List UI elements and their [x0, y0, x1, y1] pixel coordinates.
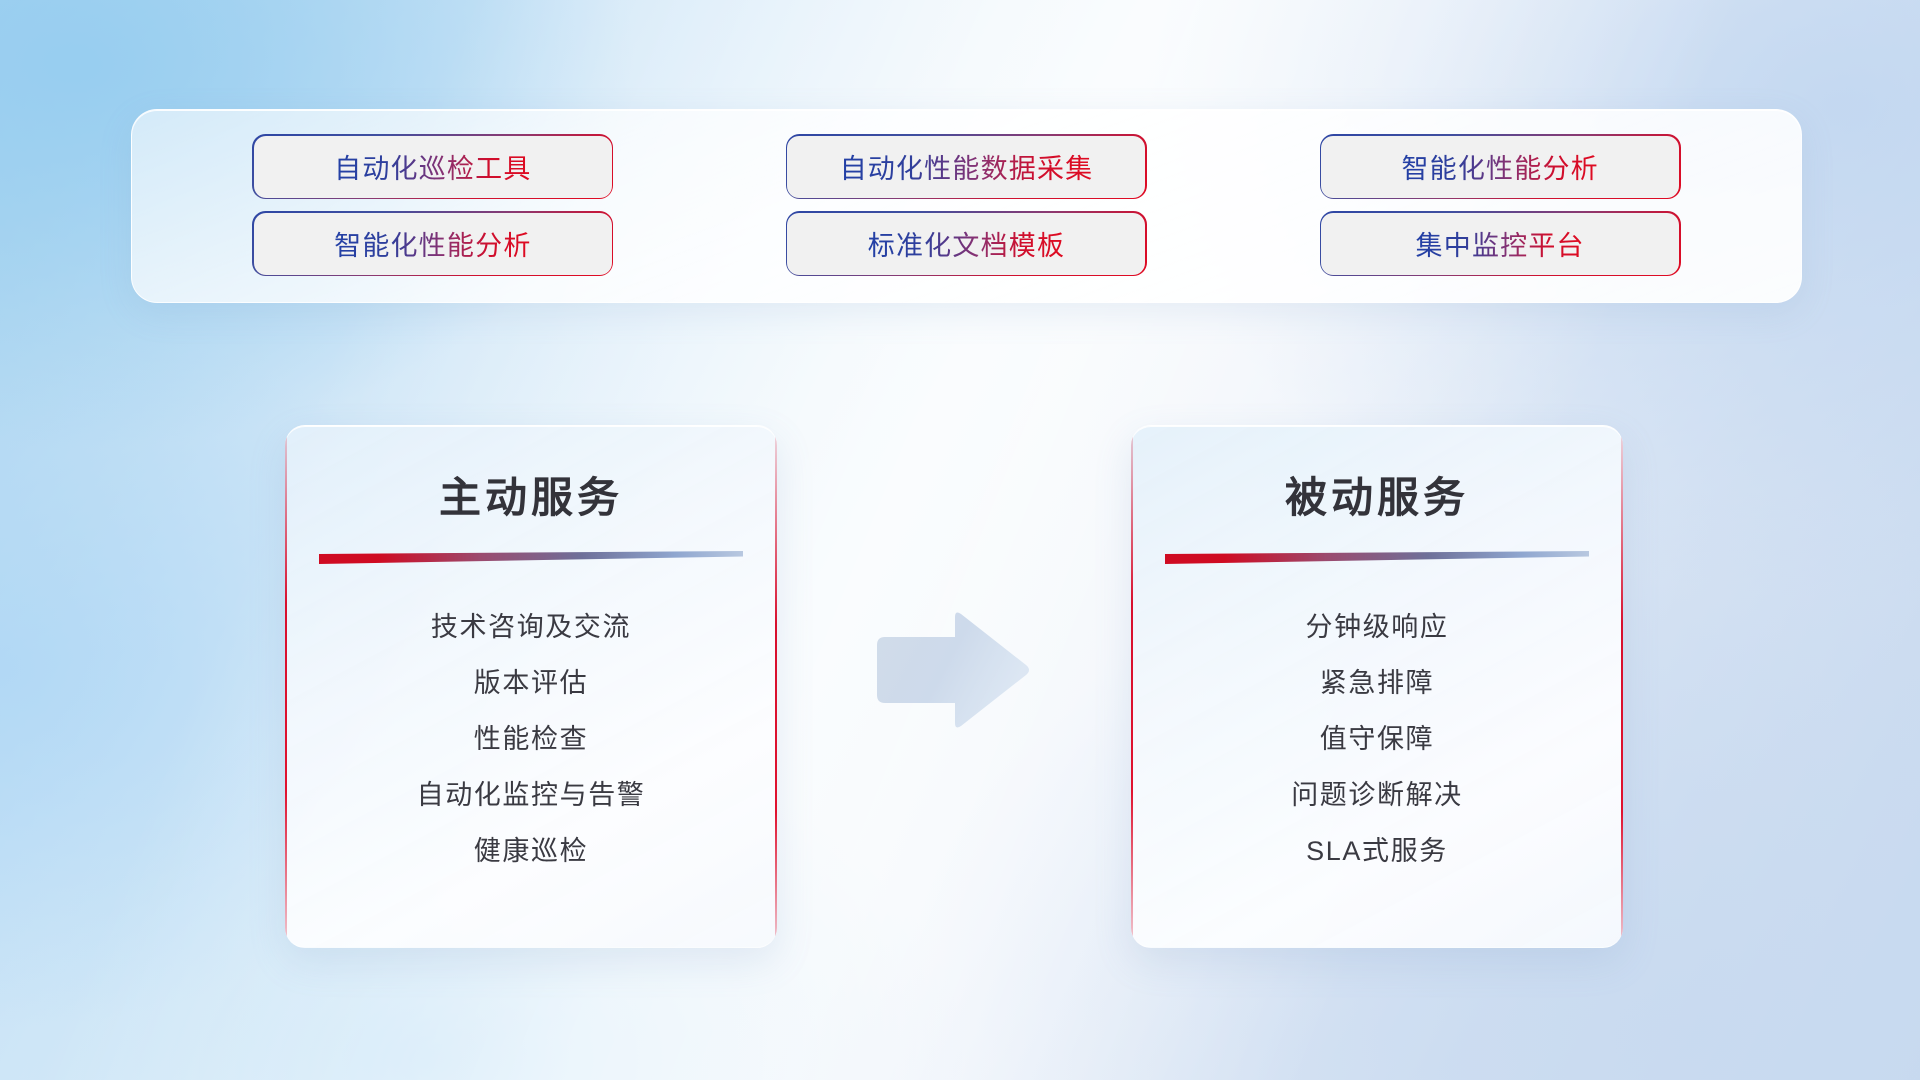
capabilities-panel: 自动化巡检工具 自动化性能数据采集 智能化性能分析 智能化性能分析 标准化文档模…: [131, 109, 1802, 303]
service-list-item: 技术咨询及交流: [285, 600, 777, 656]
capability-pill-3[interactable]: 智能化性能分析: [1321, 136, 1679, 198]
card-title: 被动服务: [1131, 464, 1623, 525]
service-card-reactive: 被动服务 分钟级响应 紧急排障 值守保障: [1131, 425, 1623, 948]
capability-pill-label: 自动化巡检工具: [334, 147, 531, 186]
diagram-canvas: 自动化巡检工具 自动化性能数据采集 智能化性能分析 智能化性能分析 标准化文档模…: [0, 0, 1920, 1080]
service-list-item: SLA式服务: [1131, 824, 1623, 880]
arrow-right-icon: [869, 612, 1033, 730]
capability-pill-label: 标准化文档模板: [868, 224, 1065, 263]
service-item-list: 分钟级响应 紧急排障 值守保障 问题诊断解决 SLA式服务: [1131, 600, 1623, 880]
capability-pill-label: 自动化性能数据采集: [840, 147, 1094, 186]
capability-pill-label: 智能化性能分析: [1401, 147, 1598, 186]
card-divider: [1165, 551, 1589, 564]
service-list-item: 自动化监控与告警: [285, 768, 777, 824]
card-title: 主动服务: [285, 464, 777, 525]
capability-pill-label: 智能化性能分析: [334, 224, 531, 263]
service-list-item: 值守保障: [1131, 712, 1623, 768]
card-divider: [319, 551, 743, 564]
capability-pill-6[interactable]: 集中监控平台: [1321, 213, 1679, 275]
service-list-item: 分钟级响应: [1131, 600, 1623, 656]
service-list-item: 版本评估: [285, 656, 777, 712]
service-list-item: 紧急排障: [1131, 656, 1623, 712]
capability-pill-5[interactable]: 标准化文档模板: [787, 213, 1145, 275]
service-list-item: 问题诊断解决: [1131, 768, 1623, 824]
capability-pill-2[interactable]: 自动化性能数据采集: [787, 136, 1145, 198]
capability-pill-label: 集中监控平台: [1416, 224, 1585, 263]
service-card-proactive: 主动服务 技术咨询及交流 版本评估 性能检查: [285, 425, 777, 948]
capability-pill-4[interactable]: 智能化性能分析: [254, 213, 612, 275]
capability-pill-1[interactable]: 自动化巡检工具: [254, 136, 612, 198]
service-item-list: 技术咨询及交流 版本评估 性能检查 自动化监控与告警 健康巡检: [285, 600, 777, 880]
service-list-item: 性能检查: [285, 712, 777, 768]
service-list-item: 健康巡检: [285, 824, 777, 880]
